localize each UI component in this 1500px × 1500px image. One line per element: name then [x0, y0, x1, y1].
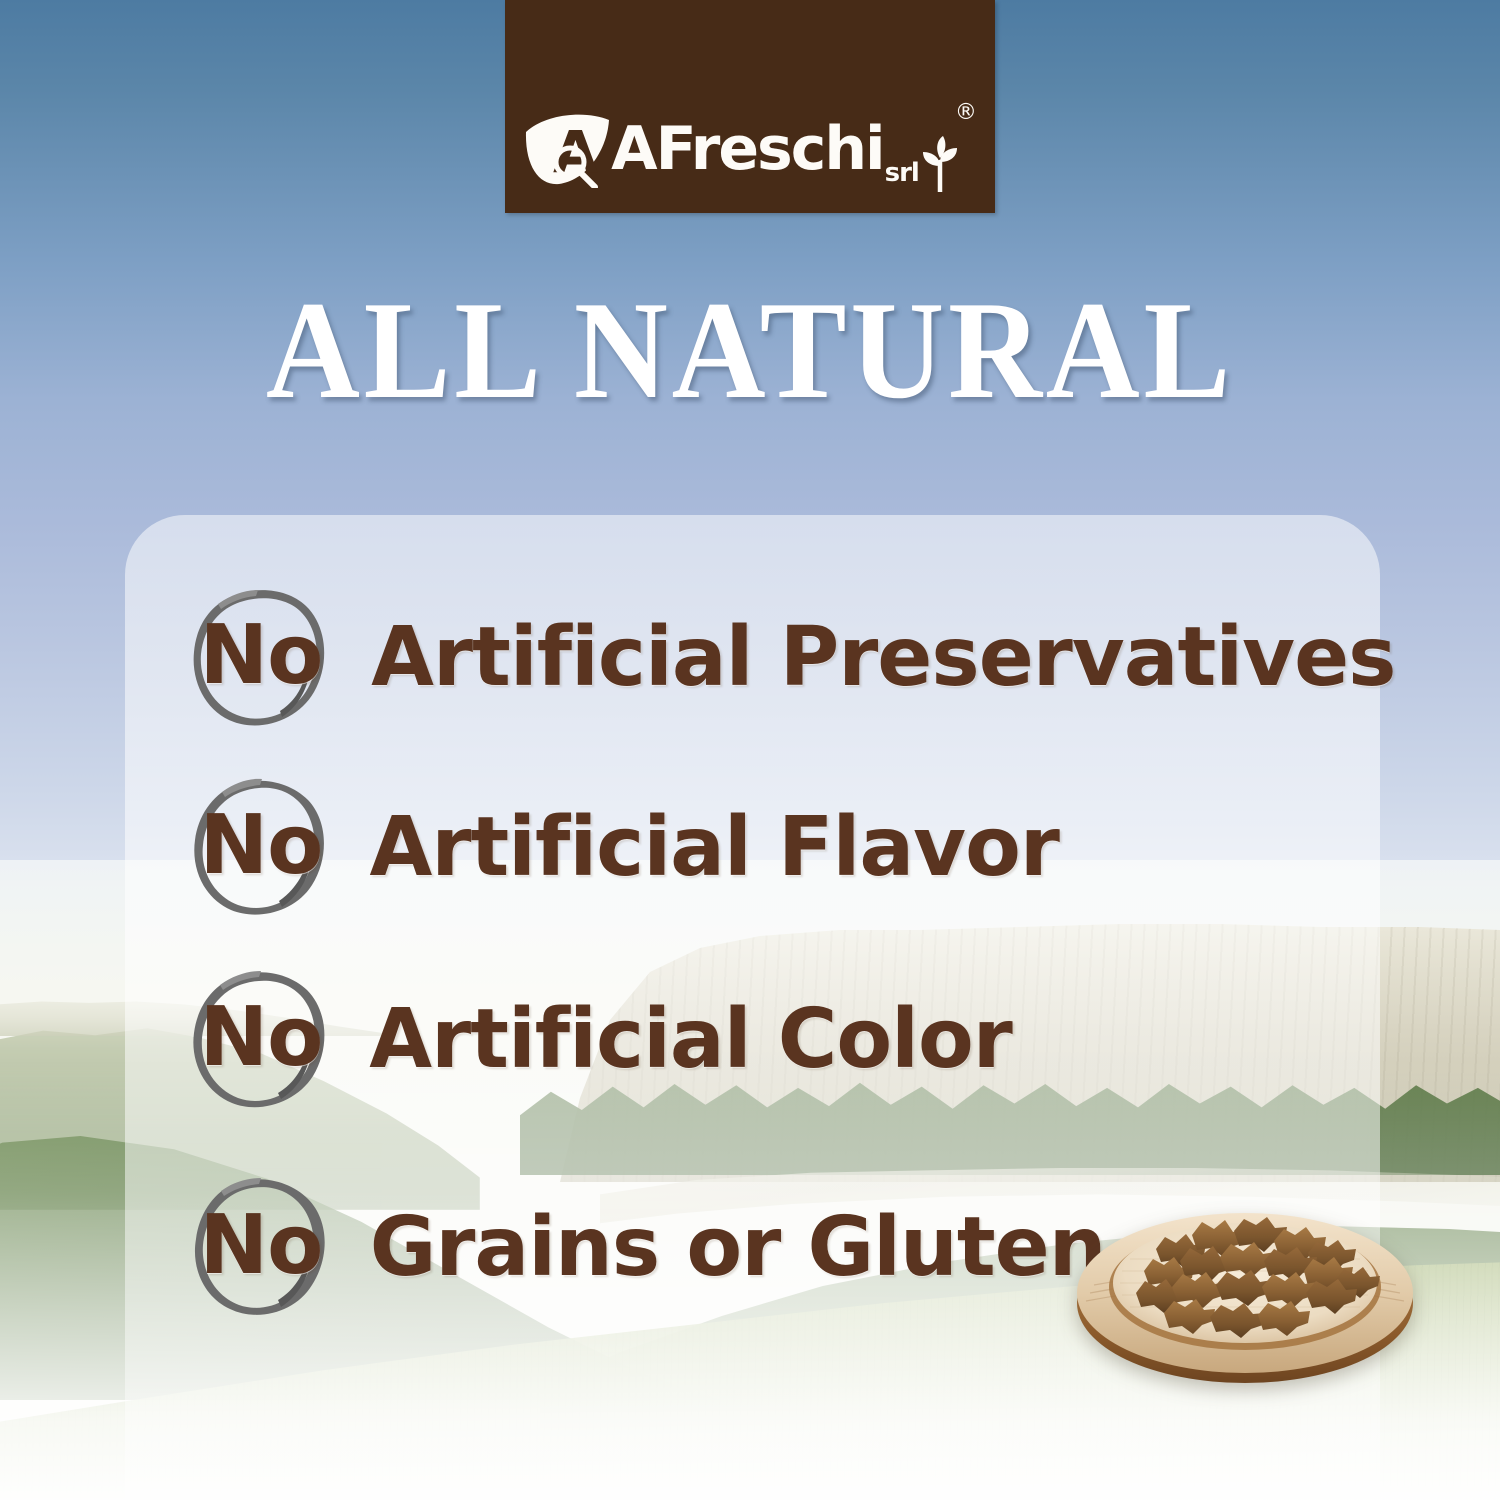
- claim-prefix: No: [200, 997, 323, 1079]
- claim-text: Artificial Flavor: [369, 807, 1058, 889]
- claim-text: Artificial Color: [369, 999, 1012, 1081]
- marketing-image-root: A AFreschi srl ® ALL NATURAL: [0, 0, 1500, 1500]
- list-item: No Artificial Color: [188, 975, 1015, 1105]
- hand-drawn-circle-icon: No: [188, 966, 334, 1114]
- claim-prefix: No: [200, 1205, 323, 1287]
- claim-prefix: No: [200, 805, 323, 887]
- list-item: No Grains or Gluten: [188, 1183, 1109, 1313]
- brand-legal-suffix: srl: [885, 158, 919, 188]
- hand-drawn-circle-icon: No: [188, 1174, 334, 1322]
- page-title: ALL NATURAL: [53, 277, 1448, 424]
- leaf-icon: A: [523, 110, 615, 188]
- registered-trademark-icon: ®: [955, 100, 977, 125]
- list-item: No Artificial Preservatives: [188, 593, 1401, 723]
- hand-drawn-circle-icon: No: [188, 584, 334, 732]
- hand-drawn-circle-icon: No: [188, 774, 334, 922]
- claim-text: Artificial Preservatives: [371, 617, 1395, 699]
- sprout-icon: [921, 136, 959, 192]
- brand-logo-block: A AFreschi srl ®: [505, 0, 995, 213]
- product-photo-treats-plate: [1060, 1175, 1430, 1415]
- list-item: No Artificial Flavor: [188, 783, 1062, 913]
- brand-wordmark: AFreschi: [611, 119, 883, 179]
- claim-text: Grains or Gluten: [370, 1207, 1106, 1289]
- claim-prefix: No: [200, 615, 323, 697]
